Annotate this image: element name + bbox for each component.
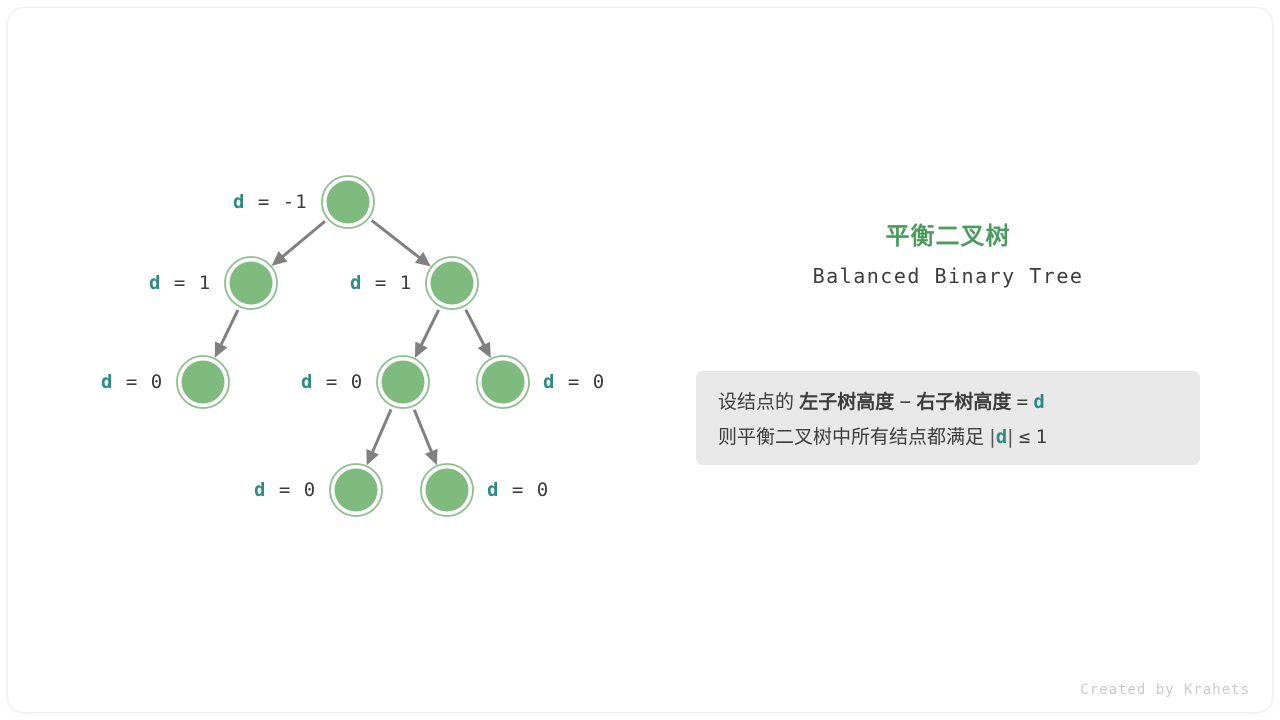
tree-edge: [277, 221, 325, 261]
tree-node-n5[interactable]: [482, 361, 525, 404]
node-label-value: = 0: [266, 479, 316, 501]
page-title: 平衡二叉树: [696, 222, 1200, 252]
tree-node-n2[interactable]: [431, 262, 474, 305]
credit-text: Created by Krahets: [1080, 682, 1250, 698]
definition-line-2: 则平衡二叉树中所有结点都满足 |d| ≤ 1: [718, 420, 1178, 455]
binary-tree-graphic: [0, 0, 1280, 720]
abs-bar-close: |: [1007, 426, 1013, 448]
definition-card: 设结点的 左子树高度 − 右子树高度 = d 则平衡二叉树中所有结点都满足 |d…: [696, 371, 1200, 465]
node-label-variable: d: [350, 272, 362, 294]
tree-edge: [466, 310, 488, 352]
tree-edge: [218, 310, 238, 351]
equals-operator: =: [1017, 391, 1028, 413]
tree-edge: [372, 220, 426, 262]
node-label-value: = -1: [245, 191, 307, 213]
tree-edge: [418, 310, 439, 352]
node-balance-label-n0: d = -1: [233, 191, 308, 213]
d-variable: d: [1033, 391, 1044, 413]
node-balance-label-n6: d = 0: [254, 479, 316, 501]
left-subtree-height-term: 左子树高度: [799, 392, 894, 413]
node-label-variable: d: [487, 479, 499, 501]
node-label-value: = 1: [161, 272, 211, 294]
node-label-variable: d: [149, 272, 161, 294]
node-balance-label-n7: d = 0: [487, 479, 549, 501]
balance-limit-value: 1: [1036, 426, 1047, 448]
node-label-value: = 0: [555, 371, 605, 393]
tree-node-n4[interactable]: [382, 361, 425, 404]
page-subtitle: Balanced Binary Tree: [696, 263, 1200, 289]
tree-node-n1[interactable]: [230, 262, 273, 305]
node-label-value: = 0: [313, 371, 363, 393]
node-balance-label-n1: d = 1: [149, 272, 211, 294]
tree-edge: [370, 410, 391, 459]
minus-operator: −: [900, 391, 911, 413]
node-label-value: = 0: [499, 479, 549, 501]
definition-line-1: 设结点的 左子树高度 − 右子树高度 = d: [718, 385, 1178, 420]
right-subtree-height-term: 右子树高度: [916, 392, 1011, 413]
tree-node-n6[interactable]: [335, 469, 378, 512]
less-equal-operator: ≤: [1019, 426, 1030, 448]
node-label-variable: d: [254, 479, 266, 501]
d-variable-abs: d: [996, 426, 1007, 448]
node-label-variable: d: [301, 371, 313, 393]
node-label-variable: d: [233, 191, 245, 213]
tree-nodes: [177, 176, 529, 516]
node-balance-label-n4: d = 0: [301, 371, 363, 393]
diagram-root: d = -1d = 1d = 1d = 0d = 0d = 0d = 0d = …: [0, 0, 1280, 720]
node-label-variable: d: [101, 371, 113, 393]
balance-condition-prefix: 则平衡二叉树中所有结点都满足: [718, 427, 984, 448]
tree-node-n0[interactable]: [327, 181, 370, 224]
node-balance-label-n2: d = 1: [350, 272, 412, 294]
node-balance-label-n5: d = 0: [543, 371, 605, 393]
definition-prefix: 设结点的: [718, 392, 794, 413]
node-label-value: = 1: [362, 272, 412, 294]
tree-edge: [414, 410, 434, 459]
node-label-variable: d: [543, 371, 555, 393]
tree-node-n7[interactable]: [426, 469, 469, 512]
tree-edges: [218, 220, 488, 458]
tree-node-n3[interactable]: [182, 361, 225, 404]
info-panel: 平衡二叉树 Balanced Binary Tree: [696, 222, 1200, 289]
node-balance-label-n3: d = 0: [101, 371, 163, 393]
node-label-value: = 0: [113, 371, 163, 393]
